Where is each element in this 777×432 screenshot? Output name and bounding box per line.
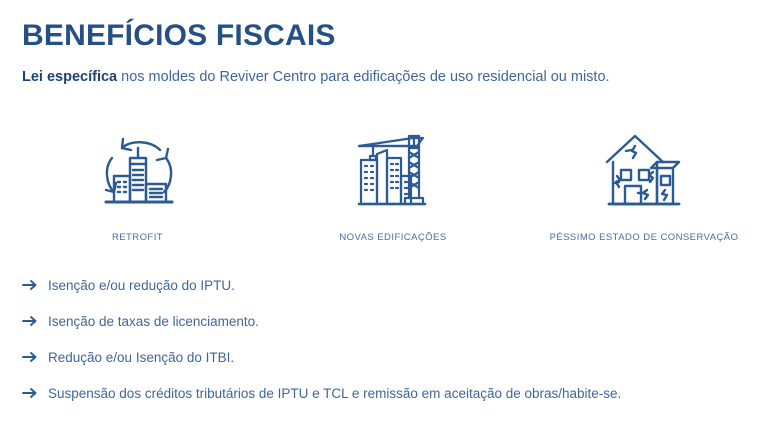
benefits-list: Isenção e/ou redução do IPTU. Isenção de… — [22, 277, 757, 421]
category-novas-edificacoes: NOVAS EDIFICAÇÕES — [275, 128, 511, 243]
cracked-house-icon — [601, 128, 687, 212]
arrow-right-icon — [22, 277, 48, 292]
retrofit-building-recycle-icon — [92, 128, 184, 212]
category-icon-row: RETROFIT — [0, 128, 777, 248]
page-title: BENEFÍCIOS FISCAIS — [22, 20, 336, 52]
category-caption-pessimo-estado: PÉSSIMO ESTADO DE CONSERVAÇÃO — [550, 232, 739, 243]
benefits-slide: BENEFÍCIOS FISCAIS Lei específica nos mo… — [0, 0, 777, 432]
subtitle-lead: Lei específica — [22, 69, 117, 85]
list-item: Isenção e/ou redução do IPTU. — [22, 277, 757, 313]
category-caption-novas-edificacoes: NOVAS EDIFICAÇÕES — [339, 232, 446, 243]
benefit-text: Isenção e/ou redução do IPTU. — [48, 277, 235, 295]
benefit-text: Isenção de taxas de licenciamento. — [48, 313, 259, 331]
arrow-right-icon — [22, 349, 48, 364]
subtitle: Lei específica nos moldes do Reviver Cen… — [22, 68, 610, 86]
list-item: Suspensão dos créditos tributários de IP… — [22, 385, 757, 421]
construction-crane-buildings-icon — [351, 128, 435, 212]
category-caption-retrofit: RETROFIT — [112, 232, 163, 243]
category-pessimo-estado: PÉSSIMO ESTADO DE CONSERVAÇÃO — [511, 128, 777, 243]
arrow-right-icon — [22, 385, 48, 400]
arrow-right-icon — [22, 313, 48, 328]
subtitle-rest: nos moldes do Reviver Centro para edific… — [117, 69, 609, 85]
benefit-text: Suspensão dos créditos tributários de IP… — [48, 385, 621, 403]
list-item: Isenção de taxas de licenciamento. — [22, 313, 757, 349]
category-retrofit: RETROFIT — [0, 128, 275, 243]
benefit-text: Redução e/ou Isenção do ITBI. — [48, 349, 234, 367]
list-item: Redução e/ou Isenção do ITBI. — [22, 349, 757, 385]
